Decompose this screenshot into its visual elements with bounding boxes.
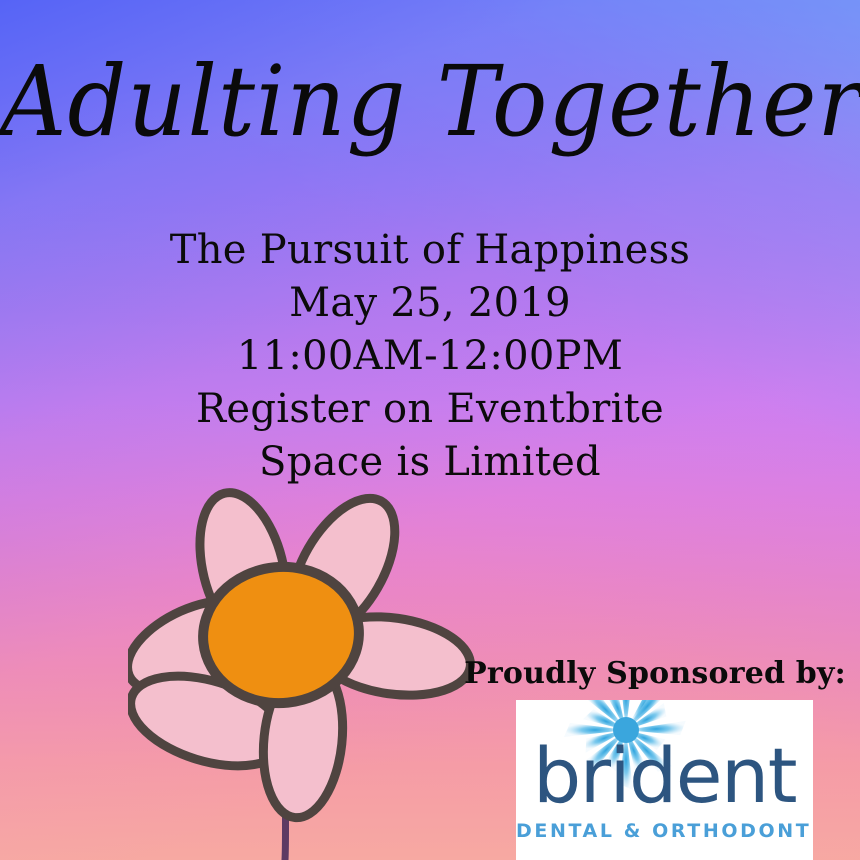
logo-wordmark: brident — [516, 738, 813, 814]
event-subtitle: The Pursuit of Happiness — [0, 224, 860, 277]
page-title: Adulting Together — [0, 53, 860, 151]
event-date: May 25, 2019 — [0, 277, 860, 330]
flower-illustration — [128, 478, 480, 860]
sponsor-label: Proudly Sponsored by: — [450, 656, 860, 691]
event-time: 11:00AM-12:00PM — [0, 330, 860, 383]
sponsor-logo: brident DENTAL & ORTHODONTICS — [516, 700, 813, 860]
event-details-block: The Pursuit of Happiness May 25, 2019 11… — [0, 224, 860, 489]
event-flyer: Adulting Together The Pursuit of Happine… — [0, 0, 860, 860]
event-registration: Register on Eventbrite — [0, 383, 860, 436]
logo-tagline: DENTAL & ORTHODONTICS — [516, 822, 813, 841]
